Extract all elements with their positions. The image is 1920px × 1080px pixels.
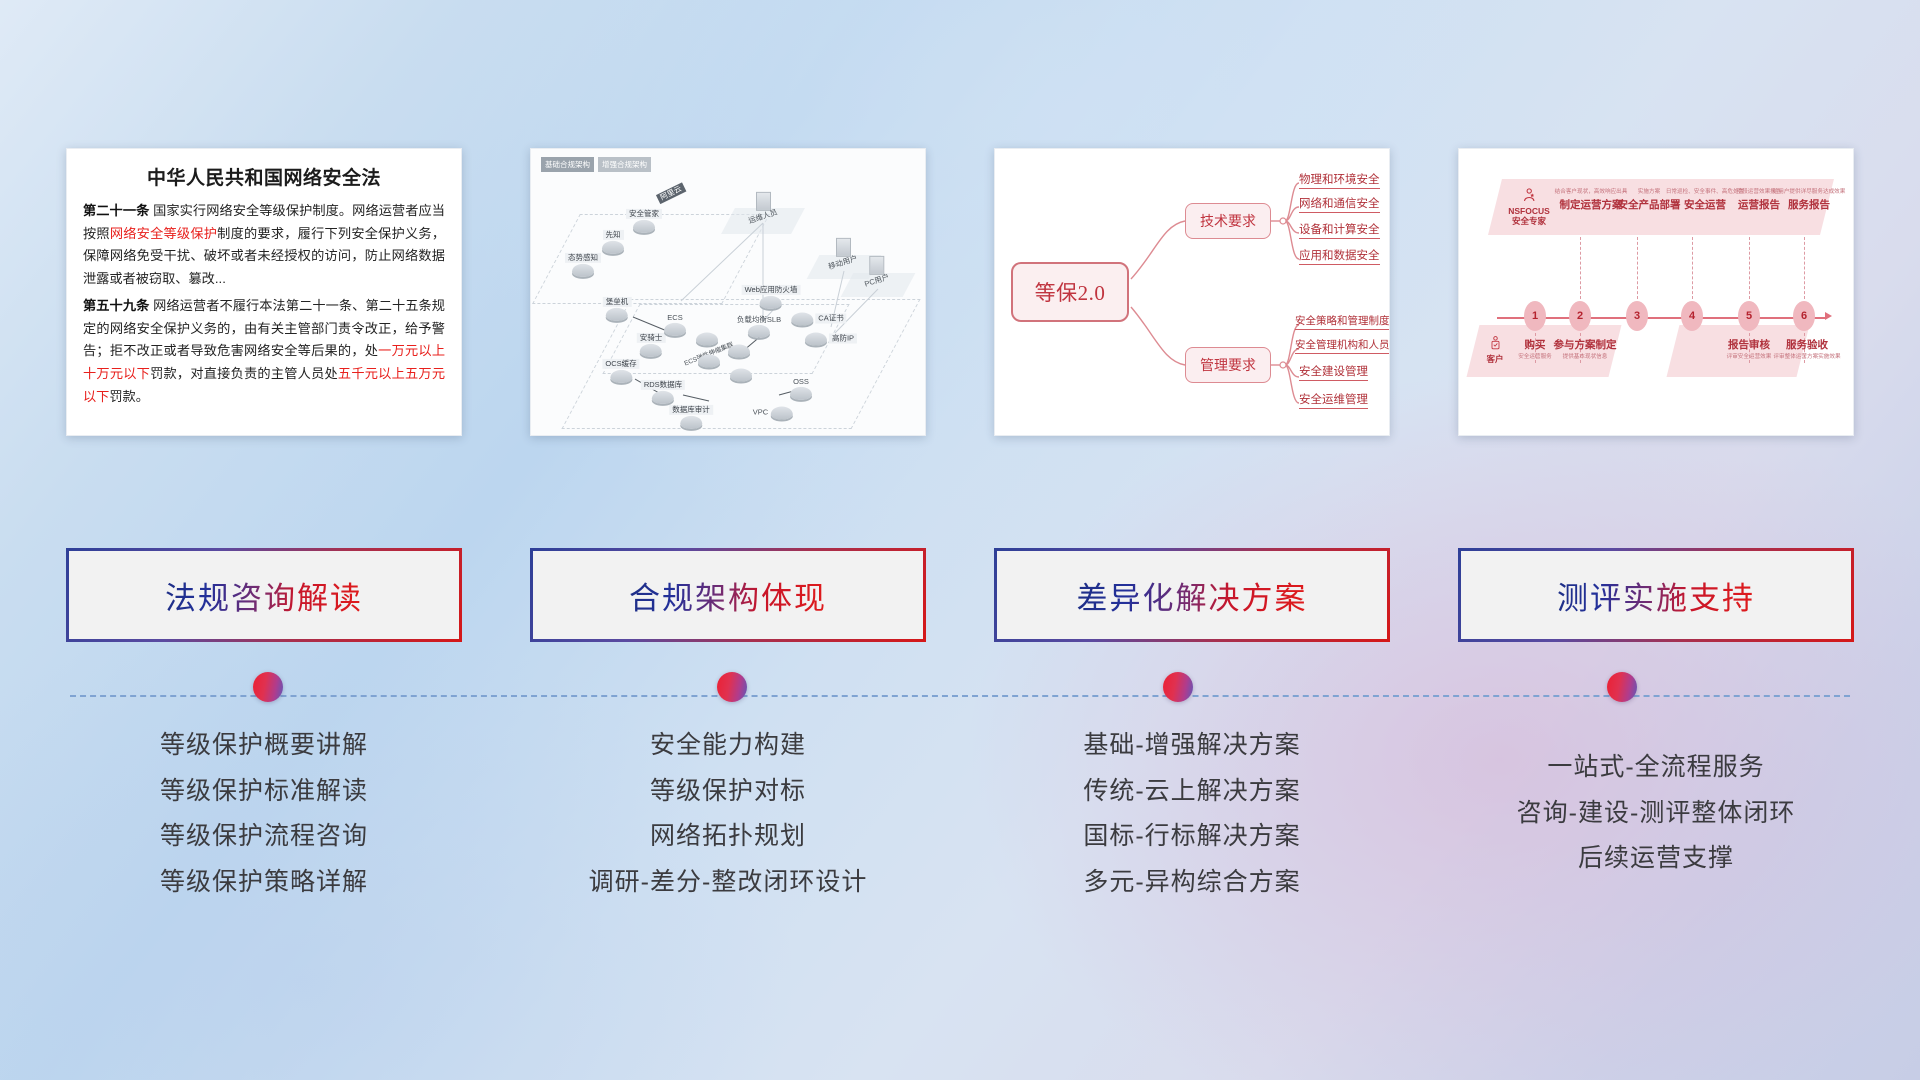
architecture-node-mobile-user: 移动用户 <box>828 238 858 268</box>
architecture-node-cluster-disc-3 <box>728 345 750 358</box>
architecture-node-label: RDS数据库 <box>641 380 685 390</box>
cylinder-icon <box>760 296 782 309</box>
customer-person-icon <box>1488 335 1502 351</box>
cylinder-icon <box>652 391 674 404</box>
architecture-node-oss: OSS <box>790 378 812 400</box>
customer-name: 客户 <box>1486 354 1503 365</box>
timeline-dot-2[interactable] <box>717 672 747 702</box>
customer-step-service-acceptance-sub: 评审整体运营方案实施效果 <box>1773 352 1840 360</box>
cylinder-icon <box>790 387 812 400</box>
timeline-node-2: 2 <box>1569 301 1591 331</box>
architecture-node-label: Web应用防火墙 <box>742 285 801 295</box>
customer-step-report-review-sub: 评审安全运营效果 <box>1727 352 1772 360</box>
architecture-node-label: 安骑士 <box>637 333 666 343</box>
cylinder-icon <box>728 345 750 358</box>
mindmap-leaf-policy-system: 安全策略和管理制度 <box>1295 313 1390 330</box>
timeline-dash-5 <box>1749 237 1750 299</box>
architecture-node-aliyun: 阿里云 <box>657 188 686 199</box>
timeline-dot-3[interactable] <box>1163 672 1193 702</box>
timeline-axis <box>1497 317 1827 319</box>
timeline-step-6-title: 服务报告 <box>1773 197 1846 212</box>
cylinder-icon <box>633 220 655 233</box>
list-item: 网络拓扑规划 <box>650 823 806 851</box>
server-icon <box>836 238 851 257</box>
law-article-number-2: 第五十九条 <box>83 298 149 313</box>
customer-step-service-acceptance-title: 服务验收 <box>1773 337 1840 352</box>
list-item: 调研-差分-整改闭环设计 <box>589 869 868 897</box>
mindmap-branch-management: 管理要求 <box>1185 347 1271 383</box>
timeline-rail <box>70 695 1850 697</box>
mindmap-leaf-network-comm: 网络和通信安全 <box>1299 195 1380 213</box>
timeline-dot-4[interactable] <box>1607 672 1637 702</box>
law-card-title: 中华人民共和国网络安全法 <box>83 163 445 190</box>
timeline-step-6-sub: 给用户提供详尽服务达成效果 <box>1773 187 1846 195</box>
architecture-node-label: 高防IP <box>829 333 857 343</box>
timeline-dash-3 <box>1637 237 1638 299</box>
nsfocus-brand: NSFOCUS <box>1508 206 1550 217</box>
section-title-box-4[interactable]: 测评实施支持 <box>1458 548 1854 642</box>
architecture-node-bastion-host: 堡垒机 <box>603 297 632 321</box>
law-highlight-1: 网络安全等级保护 <box>110 226 217 241</box>
customer-step-participate-title: 参与方案制定 <box>1554 337 1617 352</box>
timeline-node-1: 1 <box>1524 301 1546 331</box>
law-run-2b: 罚款，对直接负责的主管人员处 <box>150 366 338 381</box>
architecture-node-label: OCS缓存 <box>602 359 639 369</box>
law-run-2c: 罚款。 <box>109 389 149 404</box>
dengbao-mindmap: 等保2.0 技术要求 物理和环境安全 网络和通信安全 设备和计算安全 应用和数据… <box>995 149 1389 435</box>
architecture-node-anqishi: 安骑士 <box>637 333 666 357</box>
architecture-node-label: 先知 <box>603 230 624 240</box>
architecture-node-security-steward: 安全管家 <box>626 209 662 233</box>
mindmap-leaf-device-compute: 设备和计算安全 <box>1299 221 1380 239</box>
architecture-node-ocs-cache: OCS缓存 <box>602 359 639 383</box>
law-article-number-1: 第二十一条 <box>83 203 149 218</box>
architecture-node-cluster-disc-1 <box>696 333 718 346</box>
mindmap-card: 等保2.0 技术要求 物理和环境安全 网络和通信安全 设备和计算安全 应用和数据… <box>994 148 1390 436</box>
section-title-inner-2: 合规架构体现 <box>533 551 923 639</box>
architecture-connector-lines <box>531 149 926 436</box>
cloud-architecture-diagram: 基础合规架构 增强合规架构 <box>531 149 925 435</box>
architecture-tab-group: 基础合规架构 增强合规架构 <box>541 157 651 172</box>
section-list-2: 安全能力构建 等级保护对标 网络拓扑规划 调研-差分-整改闭环设计 <box>530 732 926 896</box>
server-icon <box>756 192 771 211</box>
timeline-node-5: 5 <box>1738 301 1760 331</box>
timeline-dash-4 <box>1692 237 1693 299</box>
customer-label: 客户 <box>1486 335 1503 364</box>
section-title-box-2[interactable]: 合规架构体现 <box>530 548 926 642</box>
cylinder-icon <box>698 355 720 368</box>
architecture-node-waf: Web应用防火墙 <box>742 285 801 309</box>
mindmap-leaf-org-personnel: 安全管理机构和人员 <box>1295 337 1390 354</box>
preview-card-row: 中华人民共和国网络安全法 第二十一条 国家实行网络安全等级保护制度。网络运营者应… <box>0 148 1920 446</box>
law-card: 中华人民共和国网络安全法 第二十一条 国家实行网络安全等级保护制度。网络运营者应… <box>66 148 462 436</box>
section-list-row: 等级保护概要讲解 等级保护标准解读 等级保护流程咨询 等级保护策略详解 安全能力… <box>0 732 1920 896</box>
cloud-architecture-card: 基础合规架构 增强合规架构 <box>530 148 926 436</box>
section-title-text-3: 差异化解决方案 <box>1077 573 1308 618</box>
customer-step-service-acceptance: 服务验收 评审整体运营方案实施效果 <box>1773 337 1840 362</box>
list-item: 多元-异构综合方案 <box>1083 869 1300 897</box>
section-title-box-3[interactable]: 差异化解决方案 <box>994 548 1390 642</box>
expert-person-icon <box>1521 187 1537 203</box>
cylinder-icon <box>805 333 827 346</box>
architecture-node-situation-awareness: 态势感知 <box>565 253 601 277</box>
cylinder-icon <box>730 369 752 382</box>
timeline-step-4-sub: 日常巡检、安全事件、高危处置 <box>1666 187 1744 195</box>
architecture-tab-basic[interactable]: 基础合规架构 <box>541 157 594 172</box>
section-title-inner-1: 法规咨询解读 <box>69 551 459 639</box>
architecture-node-label: 负载均衡SLB <box>737 316 781 324</box>
architecture-node-rds-database: RDS数据库 <box>641 380 685 404</box>
list-item: 基础-增强解决方案 <box>1083 732 1300 760</box>
architecture-node-label: ECS <box>667 314 682 322</box>
cylinder-icon <box>664 323 686 336</box>
mindmap-leaf-operations-mgmt: 安全运维管理 <box>1299 391 1368 409</box>
architecture-tab-enhanced[interactable]: 增强合规架构 <box>598 157 651 172</box>
mindmap-root-node: 等保2.0 <box>1011 262 1129 322</box>
architecture-node-label: VPC <box>753 408 768 416</box>
cylinder-icon <box>602 241 624 254</box>
architecture-node-cluster-disc-4 <box>730 369 752 382</box>
timeline-step-4-title: 安全运营 <box>1666 197 1744 212</box>
architecture-node-anti-ddos-ip: 高防IP <box>805 333 857 346</box>
architecture-node-ops-user: 运维人员 <box>748 192 778 222</box>
architecture-node-ecs: ECS <box>664 314 686 336</box>
mindmap-branch-technical: 技术要求 <box>1185 203 1271 239</box>
timeline-axis-arrow-icon <box>1825 312 1832 320</box>
section-title-inner-4: 测评实施支持 <box>1461 551 1851 639</box>
list-item: 等级保护流程咨询 <box>160 823 368 851</box>
timeline-node-4: 4 <box>1681 301 1703 331</box>
slide-canvas: 中华人民共和国网络安全法 第二十一条 国家实行网络安全等级保护制度。网络运营者应… <box>0 0 1920 1080</box>
cylinder-icon <box>748 325 770 338</box>
architecture-node-label: 堡垒机 <box>603 297 632 307</box>
timeline-node-3: 3 <box>1626 301 1648 331</box>
law-card-body: 中华人民共和国网络安全法 第二十一条 国家实行网络安全等级保护制度。网络运营者应… <box>67 149 461 422</box>
architecture-node-slb: 负载均衡SLB <box>737 316 781 338</box>
list-item: 国标-行标解决方案 <box>1083 823 1300 851</box>
architecture-node-database-audit: 数据库审计 <box>669 405 713 429</box>
nsfocus-brand-sub: 安全专家 <box>1508 216 1550 227</box>
mindmap-collapse-handle-mgmt <box>1280 362 1286 368</box>
customer-step-purchase: 购买 安全运营服务 <box>1518 337 1552 362</box>
list-item: 传统-云上解决方案 <box>1083 778 1300 806</box>
customer-step-report-review: 报告审核 评审安全运营效果 <box>1727 337 1772 362</box>
architecture-node-cluster-disc-2 <box>698 355 720 368</box>
nsfocus-timeline-card: NSFOCUS 安全专家 结合客户现状，高效响应出具 制定运营方案 实施方案 安… <box>1458 148 1854 436</box>
list-item: 等级保护策略详解 <box>160 869 368 897</box>
section-list-3: 基础-增强解决方案 传统-云上解决方案 国标-行标解决方案 多元-异构综合方案 <box>994 732 1390 896</box>
architecture-node-label: 安全管家 <box>626 209 662 219</box>
customer-step-report-review-title: 报告审核 <box>1727 337 1772 352</box>
timeline-dash-2 <box>1580 237 1581 299</box>
cylinder-icon <box>680 416 702 429</box>
section-list-1: 等级保护概要讲解 等级保护标准解读 等级保护流程咨询 等级保护策略详解 <box>66 732 462 896</box>
mindmap-collapse-handle-tech <box>1280 218 1286 224</box>
architecture-node-label: OSS <box>793 378 809 386</box>
architecture-node-ca-certificate: CA证书 <box>791 313 846 326</box>
cylinder-icon <box>791 313 813 326</box>
mindmap-leaf-app-data: 应用和数据安全 <box>1299 247 1380 265</box>
customer-step-participate-sub: 提供基本现状信息 <box>1554 352 1617 360</box>
cylinder-icon <box>610 370 632 383</box>
timeline-step-2-header: 结合客户现状，高效响应出具 制定运营方案 <box>1555 187 1628 212</box>
section-title-text-2: 合规架构体现 <box>629 573 827 618</box>
cylinder-icon <box>640 344 662 357</box>
architecture-node-xianzhi: 先知 <box>602 230 624 254</box>
timeline-step-2-title: 制定运营方案 <box>1555 197 1628 212</box>
timeline-node-6: 6 <box>1793 301 1815 331</box>
list-item: 一站式-全流程服务 <box>1547 754 1764 782</box>
nsfocus-service-timeline: NSFOCUS 安全专家 结合客户现状，高效响应出具 制定运营方案 实施方案 安… <box>1459 149 1853 435</box>
architecture-node-pc-user: PC用户 <box>864 256 889 286</box>
architecture-node-label: CA证书 <box>815 313 846 323</box>
timeline-step-6-header: 给用户提供详尽服务达成效果 服务报告 <box>1773 187 1846 212</box>
section-title-row: 法规咨询解读 合规架构体现 差异化解决方案 测评实施支持 <box>0 548 1920 644</box>
list-item: 等级保护概要讲解 <box>160 732 368 760</box>
cylinder-icon <box>771 407 793 420</box>
timeline-step-2-sub: 结合客户现状，高效响应出具 <box>1555 187 1628 195</box>
mindmap-leaf-construction-mgmt: 安全建设管理 <box>1299 363 1368 381</box>
nsfocus-expert-label: NSFOCUS 安全专家 <box>1508 187 1550 227</box>
section-title-inner-3: 差异化解决方案 <box>997 551 1387 639</box>
section-title-text-4: 测评实施支持 <box>1557 573 1755 618</box>
section-title-text-1: 法规咨询解读 <box>165 573 363 618</box>
mindmap-leaf-physical-env: 物理和环境安全 <box>1299 171 1380 189</box>
architecture-node-label: 态势感知 <box>565 253 601 263</box>
list-item: 咨询-建设-测评整体闭环 <box>1517 800 1796 828</box>
customer-step-participate: 参与方案制定 提供基本现状信息 <box>1554 337 1617 362</box>
list-item: 等级保护对标 <box>650 778 806 806</box>
server-icon <box>869 256 884 275</box>
law-paragraph-2: 第五十九条 网络运营者不履行本法第二十一条、第二十五条规定的网络安全保护义务的，… <box>83 295 445 409</box>
law-paragraph-1: 第二十一条 国家实行网络安全等级保护制度。网络运营者应当按照网络安全等级保护制度… <box>83 200 445 291</box>
cylinder-icon <box>572 264 594 277</box>
cylinder-icon <box>606 308 628 321</box>
section-title-box-1[interactable]: 法规咨询解读 <box>66 548 462 642</box>
timeline-step-4-header: 日常巡检、安全事件、高危处置 安全运营 <box>1666 187 1744 212</box>
list-item: 后续运营支撑 <box>1578 845 1734 873</box>
list-item: 等级保护标准解读 <box>160 778 368 806</box>
customer-step-purchase-sub: 安全运营服务 <box>1518 352 1552 360</box>
cylinder-icon <box>696 333 718 346</box>
timeline-dash-6 <box>1804 237 1805 299</box>
section-list-4: 一站式-全流程服务 咨询-建设-测评整体闭环 后续运营支撑 <box>1458 732 1854 896</box>
architecture-node-vpc: VPC <box>753 407 793 420</box>
timeline-dot-1[interactable] <box>253 672 283 702</box>
list-item: 安全能力构建 <box>650 732 806 760</box>
architecture-node-label: 数据库审计 <box>669 405 713 415</box>
customer-step-purchase-title: 购买 <box>1518 337 1552 352</box>
